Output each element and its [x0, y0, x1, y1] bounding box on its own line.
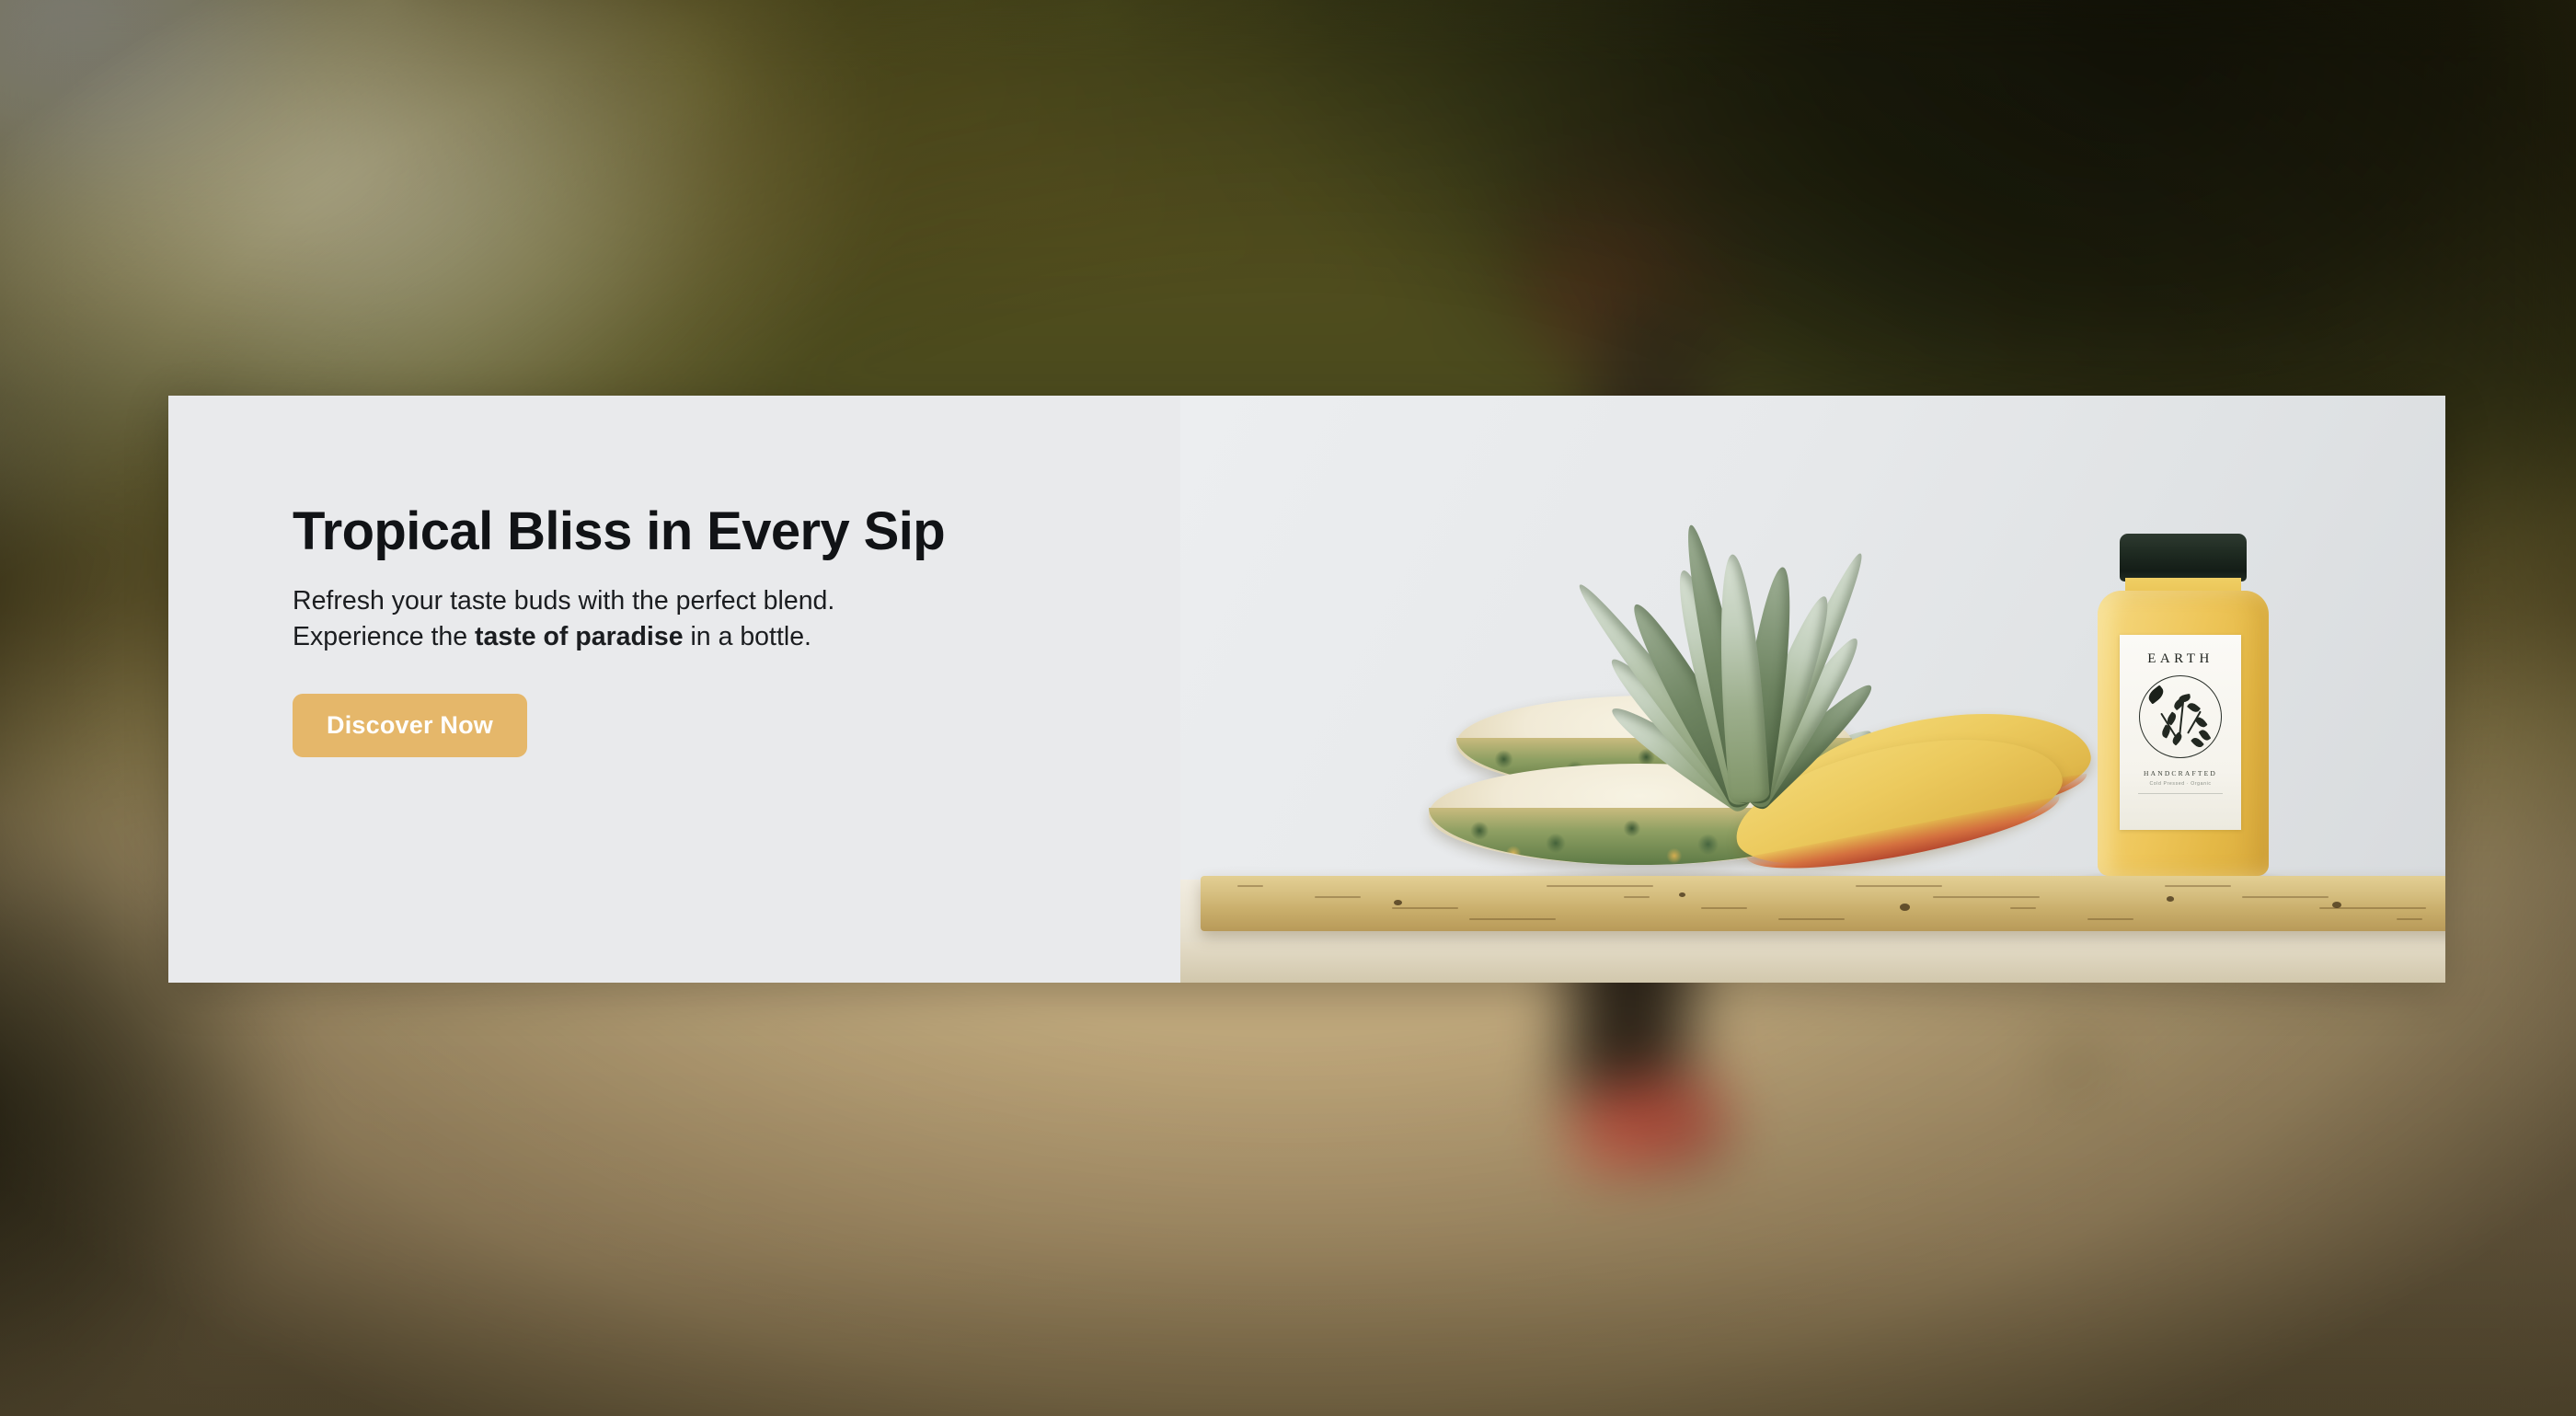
juice-bottle: EARTH HANDCRAFTED Cold Pressed · Organic — [2098, 534, 2269, 876]
banner-copy-block: Tropical Bliss in Every Sip Refresh your… — [168, 396, 1254, 983]
banner-subtitle-line1: Refresh your taste buds with the perfect… — [293, 586, 834, 616]
board-grain-line — [2397, 918, 2422, 920]
discover-now-button[interactable]: Discover Now — [293, 694, 527, 757]
bottle-brand-name: EARTH — [2147, 651, 2214, 667]
banner-subtitle-line2-prefix: Experience the — [293, 622, 475, 651]
board-grain-line — [1547, 885, 1653, 887]
bottle-cap — [2120, 534, 2247, 581]
board-grain-line — [1856, 885, 1942, 887]
banner-subtitle-highlight: taste of paradise — [475, 622, 684, 651]
board-knot — [1679, 892, 1685, 897]
board-grain-line — [1778, 918, 1845, 920]
board-grain-line — [2165, 885, 2231, 887]
banner-subtitle: Refresh your taste buds with the perfect… — [293, 583, 1254, 655]
board-knot — [2167, 896, 2174, 902]
page-title: Tropical Bliss in Every Sip — [293, 504, 1254, 559]
board-grain-line — [1701, 907, 1747, 909]
board-grain-line — [1933, 896, 2040, 898]
bottle-label: EARTH HANDCRAFTED Cold Pressed · Organic — [2120, 635, 2241, 830]
board-grain-line — [1315, 896, 1361, 898]
board-grain-line — [1469, 918, 1556, 920]
board-grain-line — [2010, 907, 2036, 909]
board-grain-line — [1624, 896, 1650, 898]
board-knot — [2332, 902, 2341, 908]
emblem-leaf-large — [2145, 685, 2166, 704]
emblem-leaf — [2194, 715, 2207, 729]
emblem-leaf — [2178, 694, 2191, 703]
banner-subtitle-line2-suffix: in a bottle. — [684, 622, 811, 651]
board-grain-line — [1392, 907, 1458, 909]
bottle-label-subtitle: HANDCRAFTED — [2144, 769, 2217, 777]
board-grain-line — [2242, 896, 2329, 898]
board-grain-line — [2087, 918, 2133, 920]
bottle-label-micro-text: Cold Pressed · Organic — [2149, 781, 2211, 789]
product-photo: EARTH HANDCRAFTED Cold Pressed · Organic — [1180, 396, 2445, 983]
board-knot — [1394, 900, 1402, 905]
wooden-serving-board — [1201, 876, 2445, 931]
promo-banner-card: Tropical Bliss in Every Sip Refresh your… — [168, 396, 2445, 983]
board-knot — [1900, 904, 1910, 911]
bottle-label-divider — [2138, 793, 2223, 794]
botanical-emblem-icon — [2139, 675, 2222, 758]
photo-table-edge — [1180, 942, 2445, 983]
